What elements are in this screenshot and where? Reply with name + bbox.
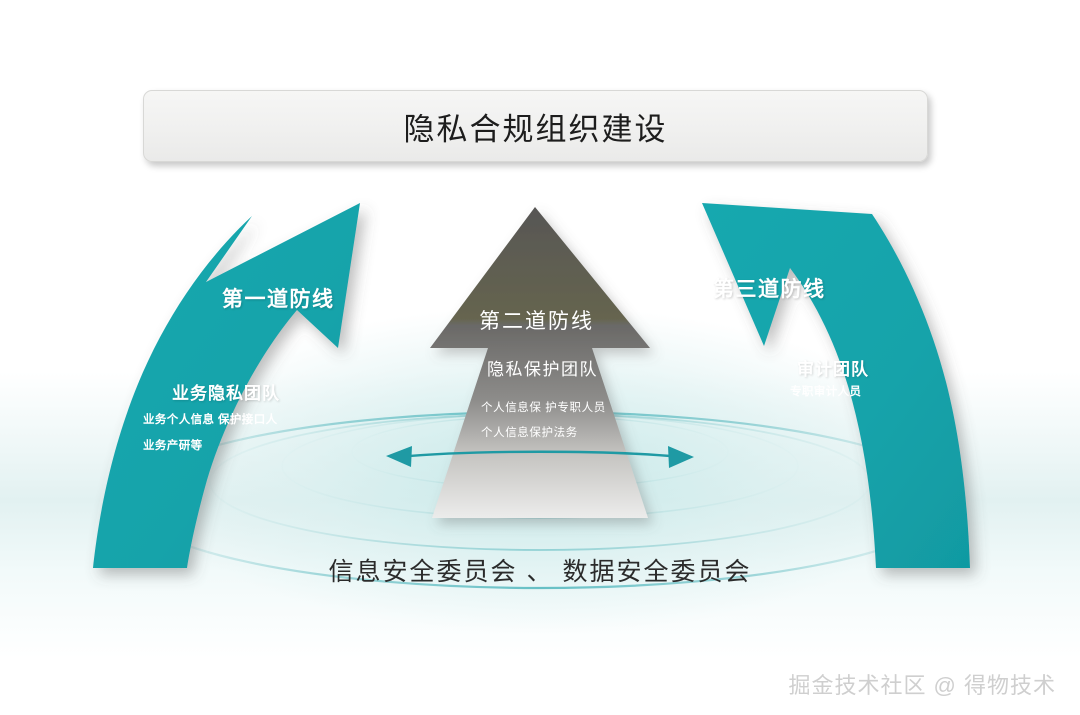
first-line-team: 业务隐私团队	[172, 379, 280, 404]
watermark: 掘金技术社区 @ 得物技术	[788, 668, 1056, 700]
first-line-role-1: 业务产研等	[143, 437, 203, 453]
second-line-heading: 第二道防线	[479, 305, 594, 335]
third-line-heading: 第三道防线	[713, 273, 826, 303]
second-line-team: 隐私保护团队	[487, 355, 598, 380]
third-line-role-0: 专职审计人员	[790, 383, 861, 399]
first-line-role-0: 业务个人信息 保护接口人	[143, 411, 278, 427]
foundation-label: 信息安全委员会 、 数据安全委员会	[0, 552, 1080, 588]
diagram-canvas: 隐私合规组织建设	[0, 0, 1080, 715]
first-line-heading: 第一道防线	[222, 283, 335, 313]
second-line-role-0: 个人信息保 护专职人员	[481, 399, 606, 415]
third-line-team: 审计团队	[797, 355, 869, 380]
second-line-role-1: 个人信息保护法务	[481, 424, 578, 440]
